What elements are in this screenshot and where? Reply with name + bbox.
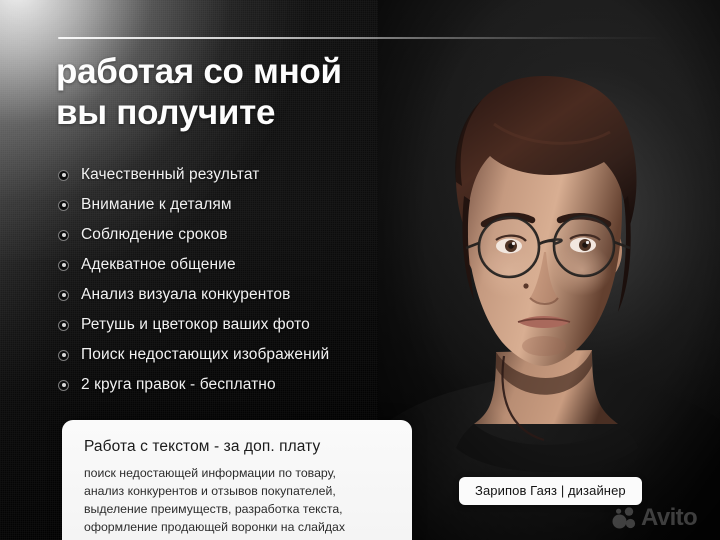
list-item: Качественный результат [58, 160, 418, 190]
list-item: Внимание к деталям [58, 190, 418, 220]
extra-service-body-line: поиск недостающей информации по товару, [84, 465, 392, 483]
list-item: Соблюдение сроков [58, 220, 418, 250]
header-divider [58, 37, 662, 39]
headline-line-1: работая со мной [56, 52, 456, 93]
extra-service-body: поиск недостающей информации по товару, … [84, 465, 392, 537]
bullet-dot-icon [58, 380, 69, 391]
feature-label: Адекватное общение [81, 256, 236, 274]
extra-service-title: Работа с текстом - за доп. плату [84, 438, 392, 456]
extra-service-body-line: выделение преимуществ, разработка текста… [84, 501, 392, 519]
bullet-dot-icon [58, 230, 69, 241]
avito-watermark: Avito [612, 506, 697, 530]
feature-label: Ретушь и цветокор ваших фото [81, 316, 310, 334]
bullet-dot-icon [58, 320, 69, 331]
headline: работая со мной вы получите [56, 52, 456, 134]
list-item: 2 круга правок - бесплатно [58, 370, 418, 400]
feature-label: Соблюдение сроков [81, 226, 228, 244]
feature-label: 2 круга правок - бесплатно [81, 376, 276, 394]
list-item: Поиск недостающих изображений [58, 340, 418, 370]
extra-service-body-line: анализ конкурентов и отзывов покупателей… [84, 483, 392, 501]
list-item: Анализ визуала конкурентов [58, 280, 418, 310]
feature-label: Качественный результат [81, 166, 259, 184]
bullet-dot-icon [58, 350, 69, 361]
bullet-dot-icon [58, 170, 69, 181]
headline-line-2: вы получите [56, 93, 456, 134]
avito-wordmark: Avito [641, 506, 697, 530]
bullet-dot-icon [58, 260, 69, 271]
feature-list: Качественный результат Внимание к деталя… [58, 160, 418, 400]
list-item: Адекватное общение [58, 250, 418, 280]
extra-service-body-line: оформление продающей воронки на слайдах [84, 519, 392, 537]
designer-name-badge: Зарипов Гаяз | дизайнер [459, 477, 642, 505]
avito-dots-icon [612, 507, 636, 529]
bullet-dot-icon [58, 290, 69, 301]
bullet-dot-icon [58, 200, 69, 211]
extra-service-card: Работа с текстом - за доп. плату поиск н… [62, 420, 412, 540]
promo-slide: работая со мной вы получите Качественный… [0, 0, 720, 540]
feature-label: Внимание к деталям [81, 196, 232, 214]
list-item: Ретушь и цветокор ваших фото [58, 310, 418, 340]
feature-label: Поиск недостающих изображений [81, 346, 329, 364]
feature-label: Анализ визуала конкурентов [81, 286, 290, 304]
